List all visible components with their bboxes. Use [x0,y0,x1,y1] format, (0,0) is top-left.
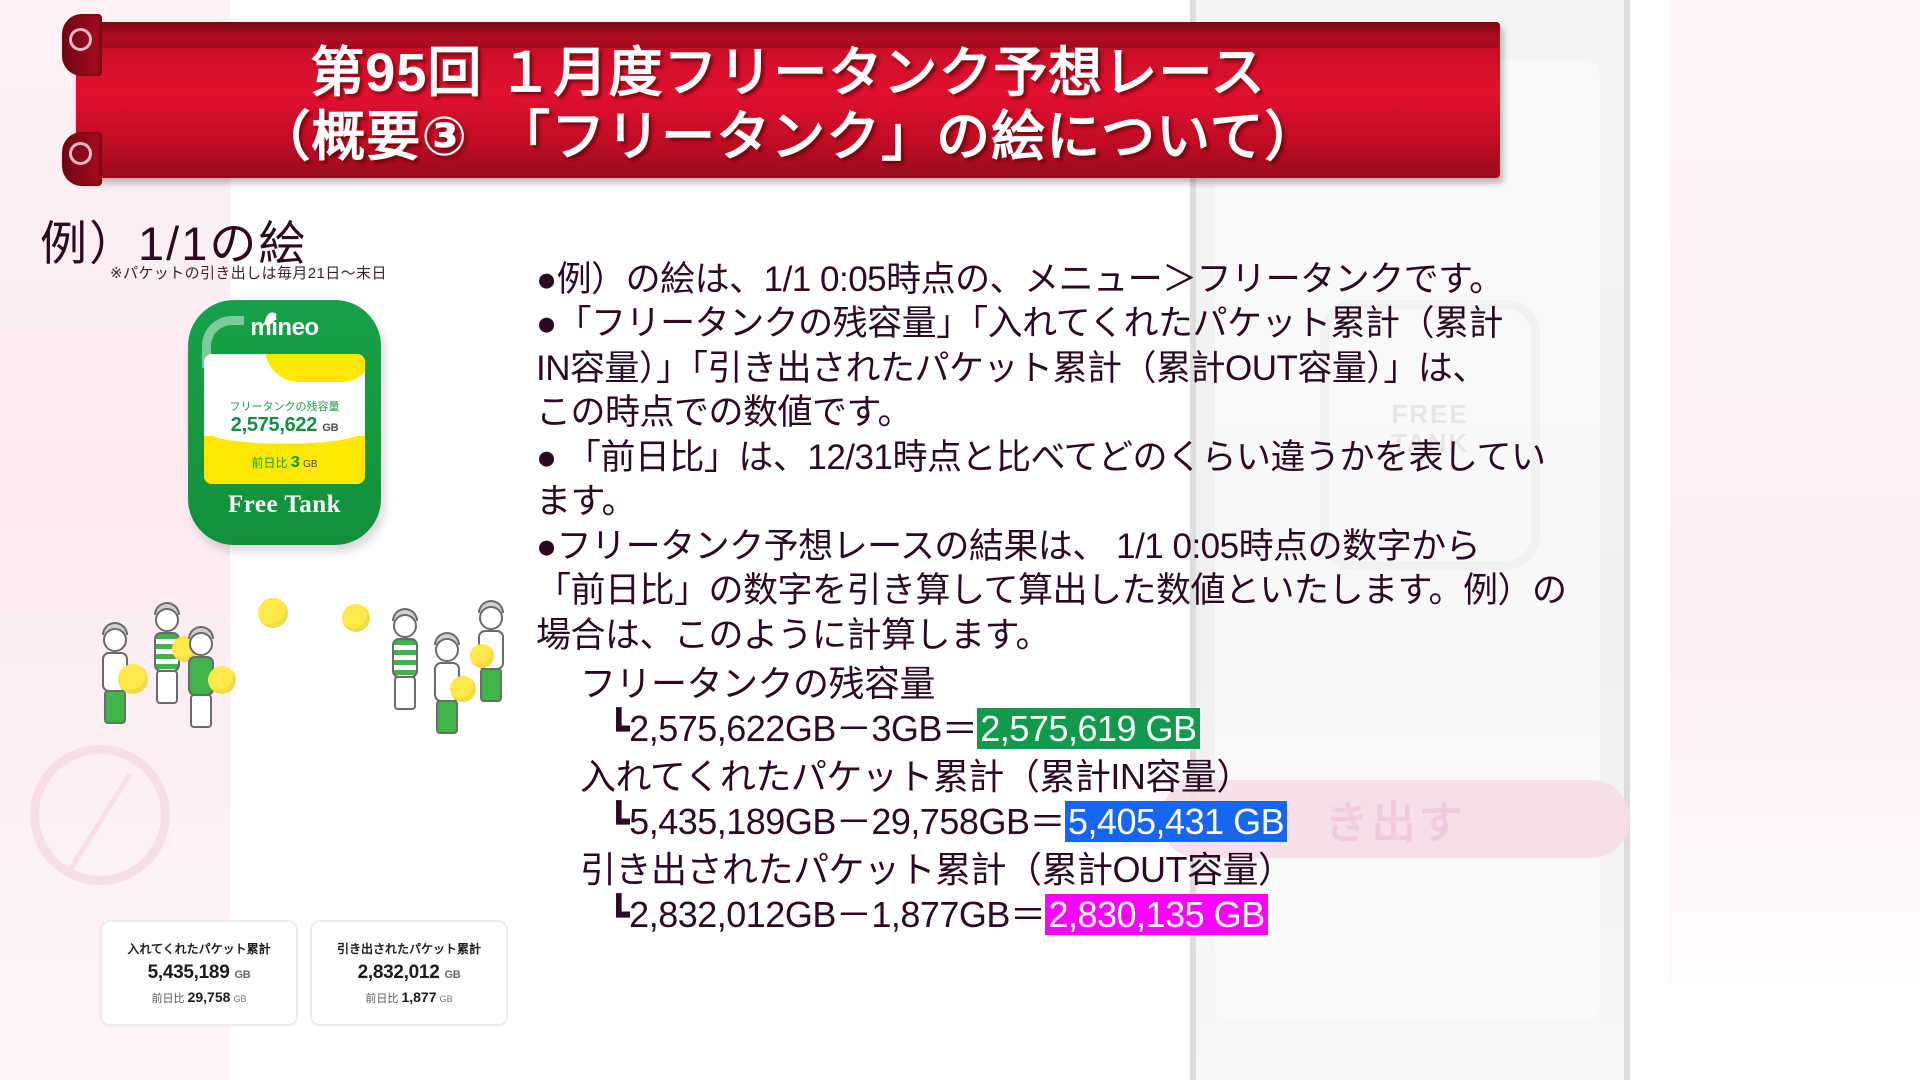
people-illustration [90,580,530,730]
tank-daily-diff: 前日比 3 GB [204,454,365,472]
legs-icon [480,668,502,702]
bullet-line: ●例）の絵は、1/1 0:05時点の、メニュー＞フリータンクです。 [536,258,1916,302]
head-icon [103,628,127,652]
calculation-label: 引き出されたパケット累計（累計OUT容量） [536,848,1916,893]
compass-icon [30,745,170,885]
stat-value-unit: GB [234,969,250,981]
stat-value: 2,832,012 GB [358,962,461,984]
bullet-line: ● 「前日比」は、12/31時点と比べてどのくらい違うかを表してい [536,436,1916,480]
packet-ball-icon [118,664,148,694]
stat-diff-value: 1,877 [401,989,436,1005]
tank-remaining-unit: GB [322,422,338,434]
mineo-logo: mineo [188,314,381,342]
page-title-line2: （概要③ 「フリータンク」の絵について） [256,106,1319,170]
bullet-line: この時点での数値です。 [536,391,1916,435]
head-icon [155,608,179,632]
calculation-label: 入れてくれたパケット累計（累計IN容量） [536,755,1916,800]
head-icon [435,638,459,662]
stat-value: 5,435,189 GB [148,962,251,984]
bullet-line: ●「フリータンクの残容量」「入れてくれたパケット累計（累計 [536,302,1916,346]
tank-daily-diff-value: 3 [291,454,300,471]
calculation-group-remaining: フリータンクの残容量 ┗2,575,622GB－3GB＝2,575,619 GB [536,662,1916,751]
head-icon [479,606,503,630]
tank-liquid-top [265,354,365,382]
calculation-line: ┗2,575,622GB－3GB＝2,575,619 GB [536,707,1916,752]
calculation-label: フリータンクの残容量 [536,662,1916,707]
stat-diff-unit: GB [440,994,453,1004]
explanation-text-block: ●例）の絵は、1/1 0:05時点の、メニュー＞フリータンクです。 ●「フリータ… [536,258,1916,938]
tank-window: フリータンクの残容量 2,575,622 GB 前日比 3 GB [204,354,365,484]
stat-value-number: 2,832,012 [358,962,440,983]
tank-daily-diff-unit: GB [303,459,317,470]
stat-value-number: 5,435,189 [148,962,230,983]
stat-diff-label: 前日比 [152,993,185,1005]
body-icon [392,638,418,678]
calculation-result-highlight: 2,575,619 GB [977,708,1199,749]
calculation-expression: ┗2,575,622GB－3GB＝ [608,708,977,749]
legs-icon [104,690,126,724]
tank-daily-diff-label: 前日比 [251,456,287,470]
legs-icon [190,694,212,728]
bullet-line: 「前日比」の数字を引き算して算出した数値といたします。例）の [536,569,1916,613]
packet-ball-icon [450,676,476,702]
bullet-line: ●フリータンク予想レースの結果は、 1/1 0:05時点の数字から [536,525,1916,569]
page-title-line1: 第95回 １月度フリータンク予想レース [310,42,1265,106]
stat-title: 入れてくれたパケット累計 [127,940,270,957]
head-icon [189,632,213,656]
stat-diff-label: 前日比 [365,993,398,1005]
stat-diff: 前日比 29,758 GB [152,989,247,1006]
head-icon [393,614,417,638]
page-title: 第95回 １月度フリータンク予想レース （概要③ 「フリータンク」の絵について） [76,34,1500,178]
stat-card-cumulative-in: 入れてくれたパケット累計 5,435,189 GB 前日比 29,758 GB [100,920,298,1026]
packet-ball-icon [208,666,236,694]
calculation-expression: ┗2,832,012GB－1,877GB＝ [608,894,1045,935]
legs-icon [436,700,458,734]
bullet-line: ます。 [536,480,1916,524]
free-tank-title: Free Tank [188,491,381,519]
tank-remaining-number: 2,575,622 [231,414,317,436]
stat-diff-unit: GB [233,994,246,1004]
packet-ball-icon [342,604,370,632]
bullet-line: 場合は、このように計算します。 [536,614,1916,658]
stat-diff: 前日比 1,877 GB [365,989,452,1006]
calculation-group-out: 引き出されたパケット累計（累計OUT容量） ┗2,832,012GB－1,877… [536,848,1916,937]
example-note: ※パケットの引き出しは毎月21日〜末日 [110,262,387,283]
bullet-line: IN容量）」「引き出されたパケット累計（累計OUT容量）」は、 [536,347,1916,391]
packet-ball-icon [258,598,288,628]
calculation-expression: ┗5,435,189GB－29,758GB＝ [608,801,1065,842]
calculation-line: ┗5,435,189GB－29,758GB＝5,405,431 GB [536,800,1916,845]
packet-ball-icon [470,644,494,668]
free-tank-card: mineo フリータンクの残容量 2,575,622 GB 前日比 3 GB F… [188,300,381,545]
title-banner: 第95回 １月度フリータンク予想レース （概要③ 「フリータンク」の絵について） [62,14,1514,186]
tank-remaining-value: 2,575,622 GB [204,414,365,437]
tank-remaining-label: フリータンクの残容量 [204,398,365,414]
stat-card-cumulative-out: 引き出されたパケット累計 2,832,012 GB 前日比 1,877 GB [310,920,508,1026]
legs-icon [394,676,416,710]
stat-value-unit: GB [444,969,460,981]
stat-title: 引き出されたパケット累計 [337,940,481,957]
calculation-result-highlight: 5,405,431 GB [1065,801,1287,842]
legs-icon [156,670,178,704]
calculation-line: ┗2,832,012GB－1,877GB＝2,830,135 GB [536,893,1916,938]
stat-diff-value: 29,758 [188,989,231,1005]
mineo-logo-text: mineo [250,314,318,341]
calculation-group-in: 入れてくれたパケット累計（累計IN容量） ┗5,435,189GB－29,758… [536,755,1916,844]
calculation-result-highlight: 2,830,135 GB [1045,894,1267,935]
